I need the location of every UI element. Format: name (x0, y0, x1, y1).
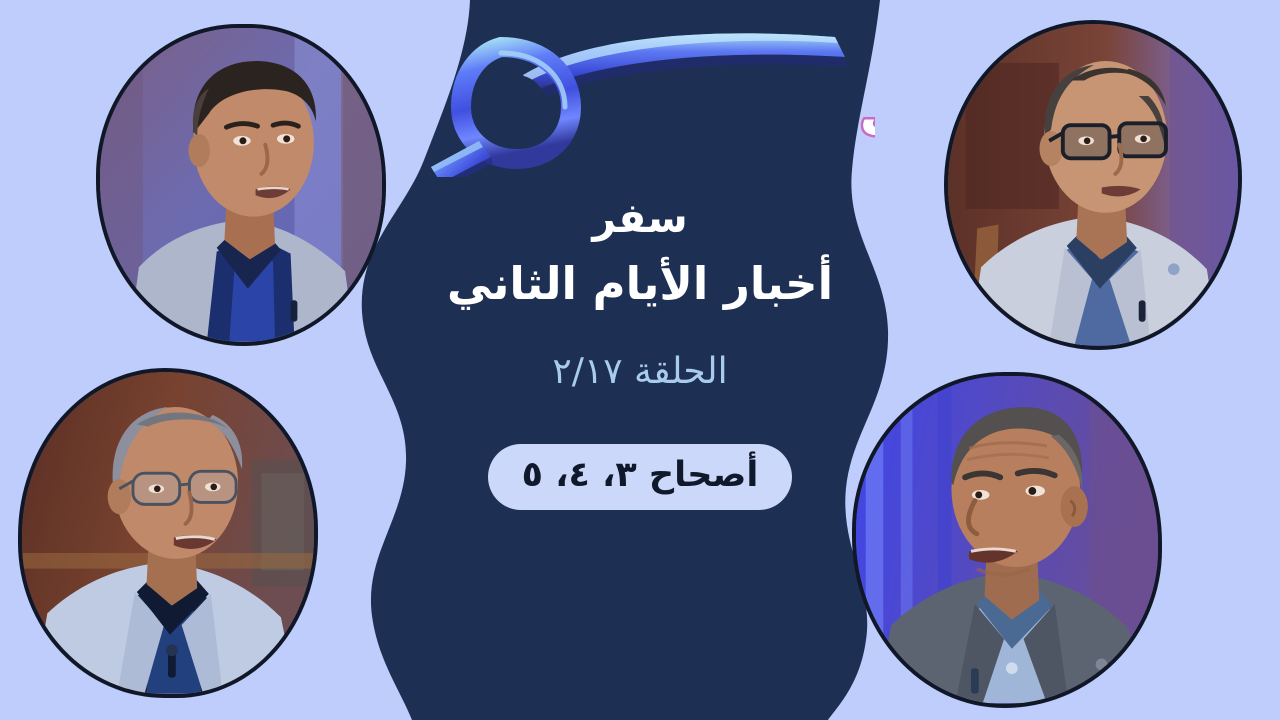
logo-wordmark: فاحصين الكتب فاحصين الكتب (860, 88, 875, 148)
episode-number: الحلقة ٢/١٧ (552, 351, 727, 392)
portrait-bottom-left (18, 368, 318, 698)
title-card: فاحصين الكتب فاحصين الكتب سفر أخبار الأي… (0, 0, 1280, 720)
portrait-top-right-photo (948, 24, 1238, 345)
portrait-top-left-photo (100, 28, 382, 341)
portrait-bottom-right-photo (856, 376, 1158, 703)
portrait-top-left (96, 24, 386, 346)
title-line-2: أخبار الأيام الثاني (447, 256, 833, 312)
chapters-badge: أصحاح ٣، ٤، ٥ (488, 444, 793, 510)
title-line-1: سفر (447, 193, 833, 244)
logo-container: فاحصين الكتب فاحصين الكتب (400, 14, 880, 179)
program-logo: فاحصين الكتب فاحصين الكتب (405, 17, 875, 177)
episode-title-group: سفر أخبار الأيام الثاني (447, 193, 833, 313)
portrait-bottom-right (852, 372, 1162, 708)
svg-text:فاحصين الكتب: فاحصين الكتب (860, 88, 875, 148)
portrait-top-right (944, 20, 1242, 350)
portrait-bottom-left-photo (22, 372, 314, 693)
